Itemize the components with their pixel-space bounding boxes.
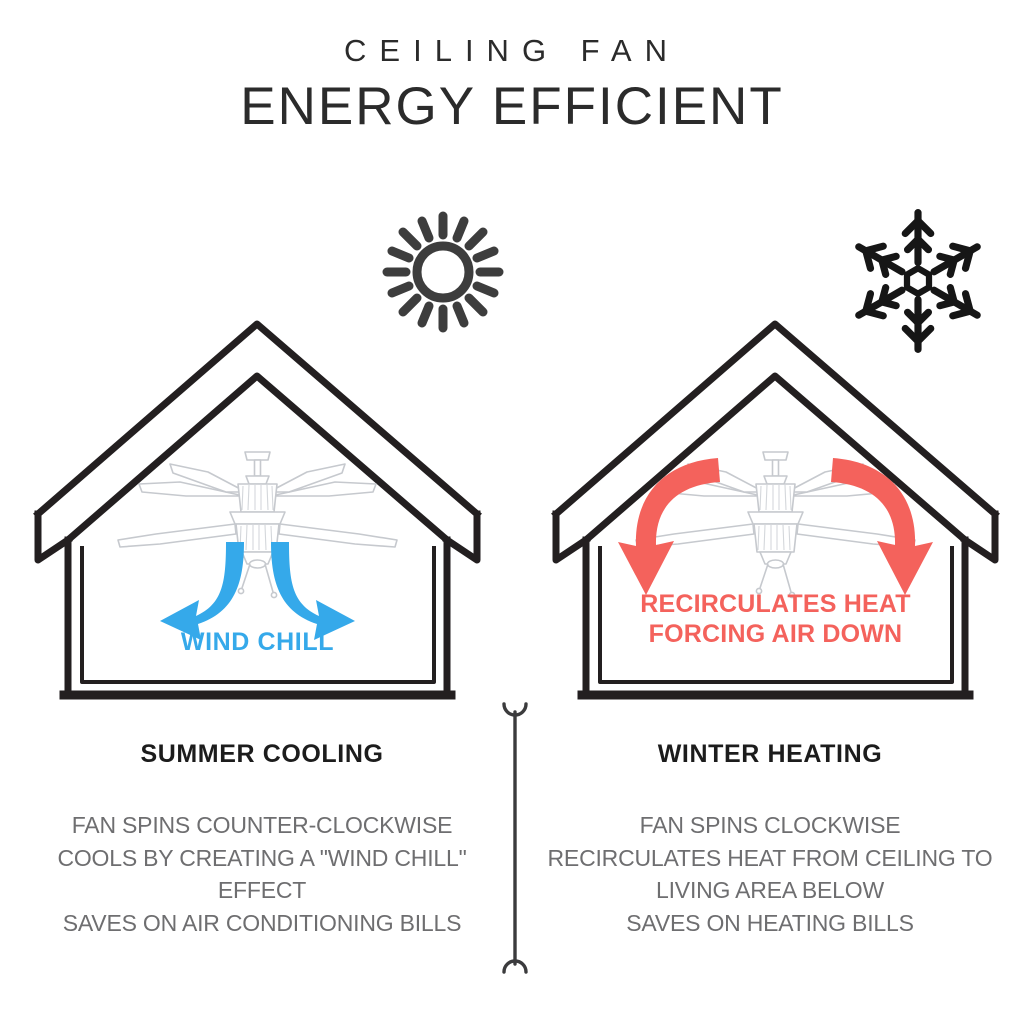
caption-line: COOLS BY CREATING A "WIND CHILL" <box>32 842 492 875</box>
caption-summer-body: FAN SPINS COUNTER-CLOCKWISE COOLS BY CRE… <box>32 809 492 940</box>
caption-winter: WINTER HEATING FAN SPINS CLOCKWISE RECIR… <box>540 740 1000 940</box>
winter-panel: RECIRCULATES HEAT FORCING AIR DOWN <box>548 312 1003 712</box>
caption-line: EFFECT <box>32 874 492 907</box>
page-eyebrow: CEILING FAN <box>0 34 1024 68</box>
caption-line: RECIRCULATES HEAT FROM CEILING TO <box>540 842 1000 875</box>
airflow-label-winter-line2: FORCING AIR DOWN <box>548 620 1003 650</box>
airflow-label-winter: RECIRCULATES HEAT FORCING AIR DOWN <box>548 590 1003 649</box>
caption-line: FAN SPINS CLOCKWISE <box>540 809 1000 842</box>
caption-summer: SUMMER COOLING FAN SPINS COUNTER-CLOCKWI… <box>32 740 492 940</box>
summer-panel: WIND CHILL <box>30 312 485 712</box>
caption-winter-body: FAN SPINS CLOCKWISE RECIRCULATES HEAT FR… <box>540 809 1000 940</box>
caption-line: FAN SPINS COUNTER-CLOCKWISE <box>32 809 492 842</box>
airflow-label-winter-line1: RECIRCULATES HEAT <box>548 590 1003 620</box>
page-header: CEILING FAN ENERGY EFFICIENT <box>0 34 1024 136</box>
airflow-label-summer: WIND CHILL <box>30 628 485 658</box>
page-title: ENERGY EFFICIENT <box>0 78 1024 136</box>
airflow-arrows-winter <box>548 312 1003 712</box>
caption-line: SAVES ON AIR CONDITIONING BILLS <box>32 907 492 940</box>
caption-line: SAVES ON HEATING BILLS <box>540 907 1000 940</box>
column-divider <box>498 698 532 978</box>
caption-summer-title: SUMMER COOLING <box>32 740 492 769</box>
divider-cap-bottom <box>504 961 526 972</box>
caption-line: LIVING AREA BELOW <box>540 874 1000 907</box>
caption-winter-title: WINTER HEATING <box>540 740 1000 769</box>
